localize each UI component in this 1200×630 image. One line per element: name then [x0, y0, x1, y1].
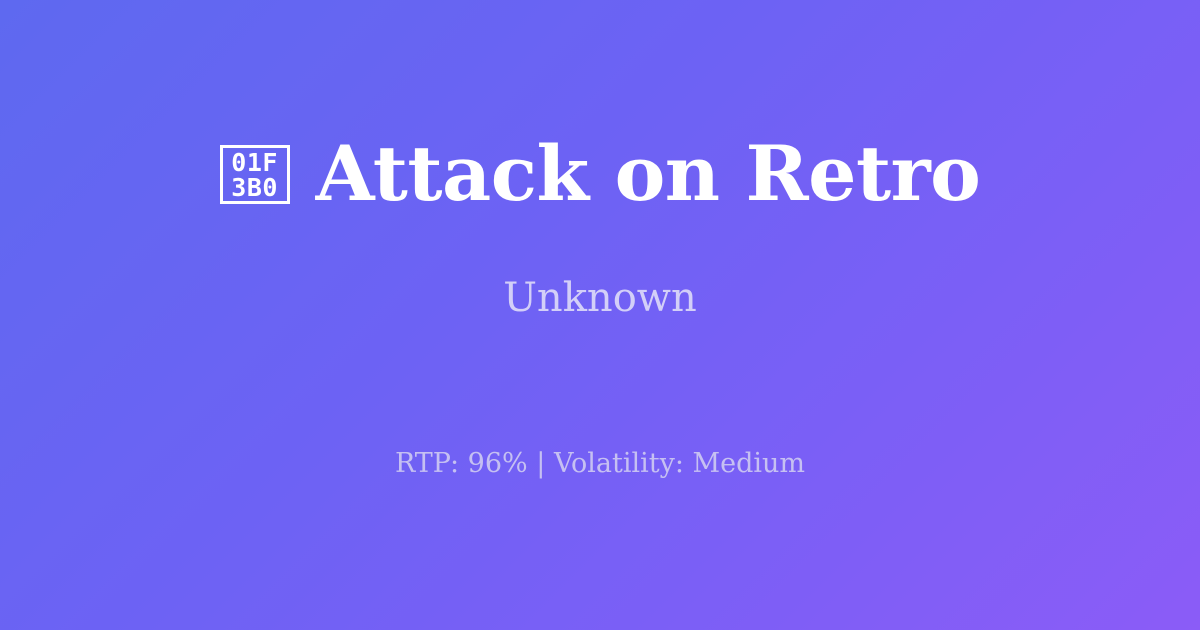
slot-machine-emoji-fallback-icon: 01F 3B0	[220, 145, 290, 204]
codepoint-top-row: 01F	[231, 150, 278, 175]
provider-subtitle: Unknown	[503, 278, 697, 318]
title-row: 01F 3B0 Attack on Retro	[220, 136, 981, 212]
page-title: Attack on Retro	[316, 136, 981, 212]
codepoint-bottom-row: 3B0	[231, 175, 278, 200]
social-preview-card: 01F 3B0 Attack on Retro Unknown RTP: 96%…	[0, 0, 1200, 630]
game-stats-meta: RTP: 96% | Volatility: Medium	[395, 450, 805, 477]
